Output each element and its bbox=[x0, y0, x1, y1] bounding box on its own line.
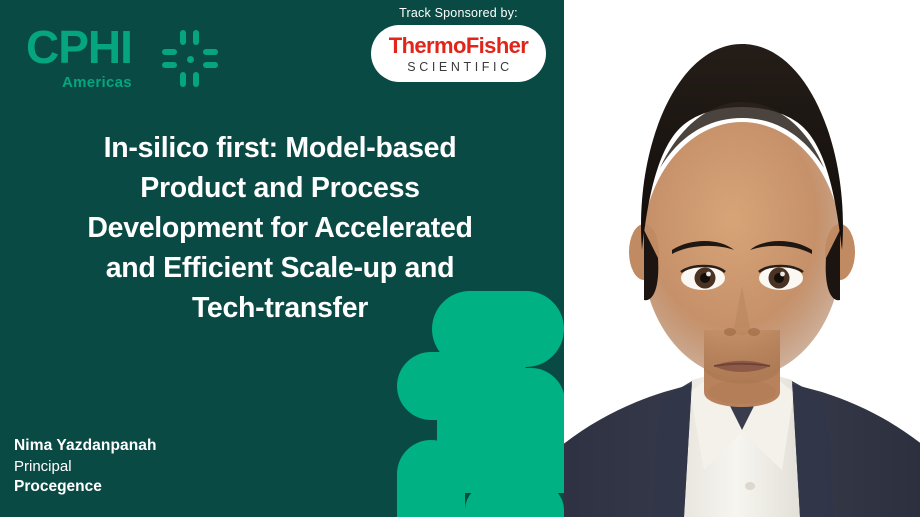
speaker-company: Procegence bbox=[14, 477, 157, 497]
cphi-logo: CPHI Americas bbox=[26, 18, 206, 96]
session-title-line: Product and Process bbox=[140, 172, 419, 204]
scientific-wordmark: SCIENTIFIC bbox=[404, 61, 512, 74]
cphi-wordmark: CPHI bbox=[26, 24, 132, 70]
thermo-fisher-wordmark: ThermoFisher bbox=[389, 35, 529, 57]
fisher-word: Fisher bbox=[466, 33, 528, 58]
speaker-block: Nima Yazdanpanah Principal Procegence bbox=[14, 436, 157, 497]
speaker-portrait bbox=[564, 0, 920, 517]
speaker-name: Nima Yazdanpanah bbox=[14, 436, 157, 456]
thermo-word: Thermo bbox=[389, 33, 466, 58]
left-content-panel: CPHI Americas Track Sponsored by: Thermo… bbox=[0, 0, 564, 517]
speaker-photo-panel bbox=[564, 0, 920, 517]
session-title-line: and Efficient Scale-up and bbox=[106, 252, 455, 284]
decorative-shape bbox=[397, 440, 465, 517]
sponsor-label: Track Sponsored by: bbox=[356, 6, 561, 20]
sponsor-block: Track Sponsored by: ThermoFisher SCIENTI… bbox=[356, 6, 561, 82]
session-title-line: Development for Accelerated bbox=[87, 212, 472, 244]
session-title-line: In-silico first: Model-based bbox=[104, 132, 457, 164]
cphi-region-label: Americas bbox=[62, 74, 132, 91]
decorative-shape bbox=[465, 484, 564, 517]
thermo-fisher-logo: ThermoFisher SCIENTIFIC bbox=[371, 25, 546, 82]
session-slide: CPHI Americas Track Sponsored by: Thermo… bbox=[0, 0, 920, 517]
session-title: In-silico first: Model-basedProduct and … bbox=[30, 128, 530, 328]
session-title-line: Tech-transfer bbox=[192, 292, 368, 324]
cphi-burst-icon bbox=[162, 30, 220, 88]
speaker-role: Principal bbox=[14, 457, 157, 477]
